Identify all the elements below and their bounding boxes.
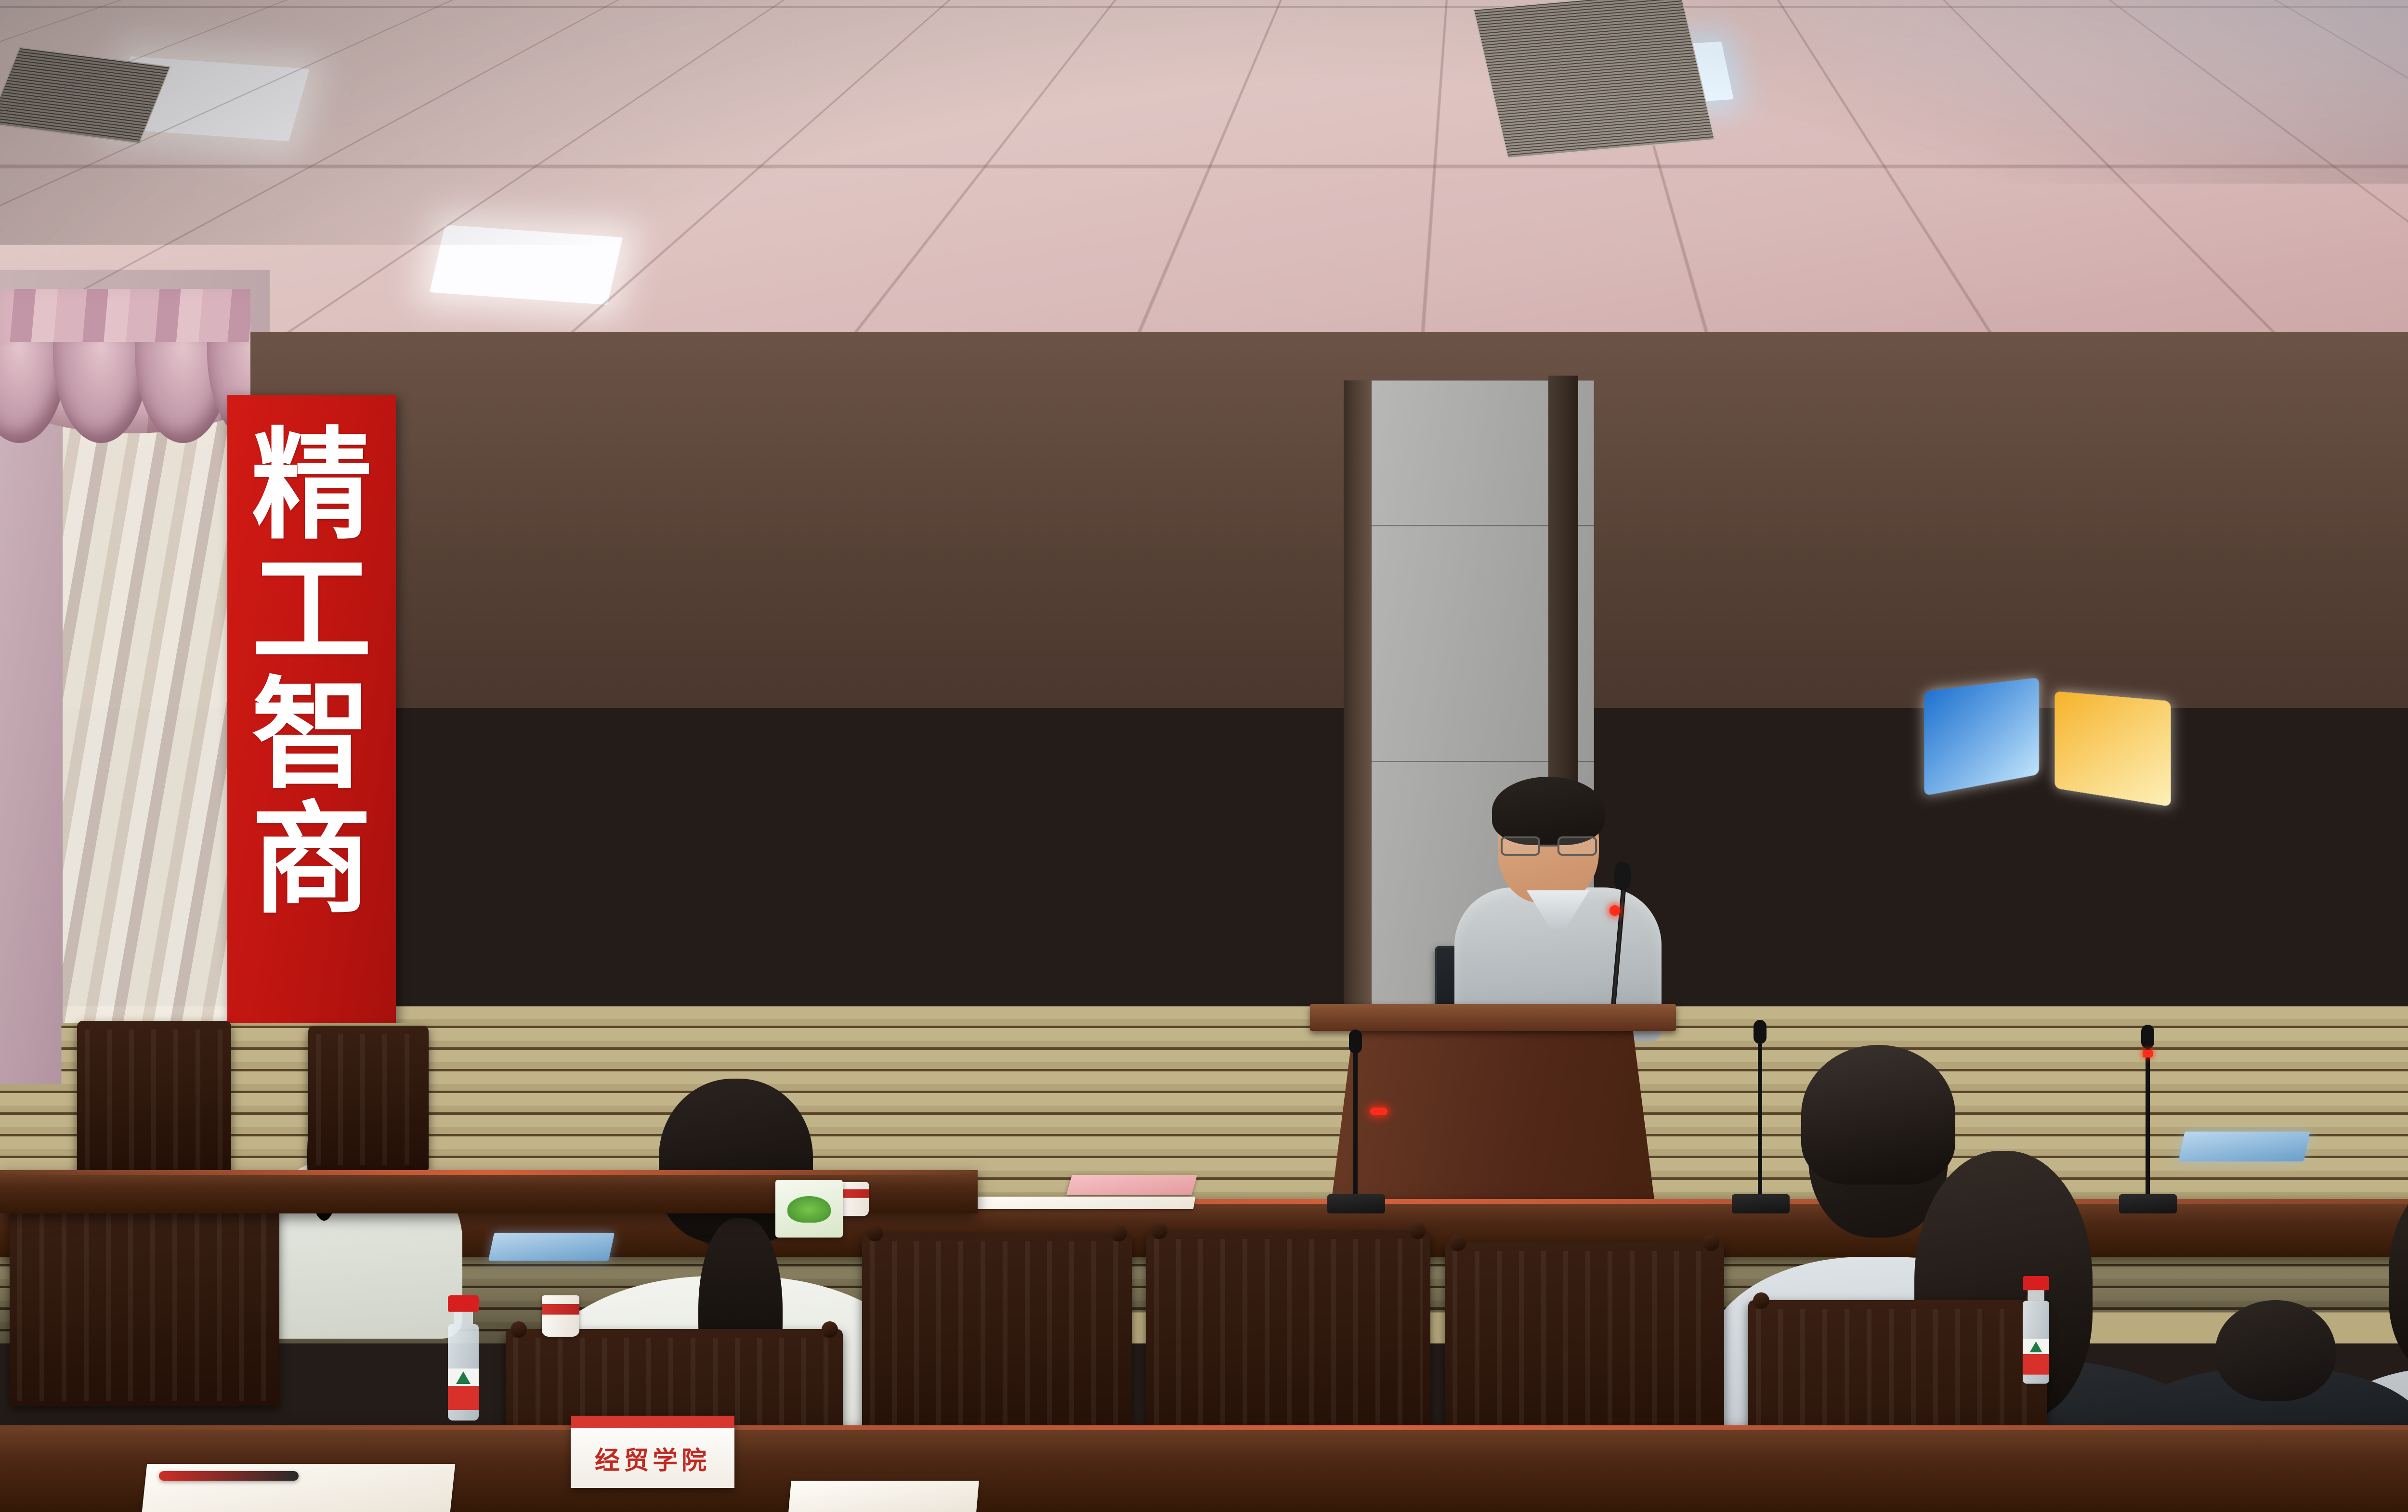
app-icon: P — [1841, 641, 1871, 671]
desktop-icon-label: 网络 — [1605, 597, 1623, 607]
desktop-icon-label: 优酷 — [1726, 674, 1743, 684]
podium-led-indicator — [1370, 1108, 1387, 1115]
app-icon: W — [1780, 719, 1810, 749]
desktop-icon-label: 网上安装 — [1838, 596, 1874, 605]
app-icon: ▷ — [1719, 641, 1750, 671]
chair-knob — [867, 1225, 883, 1241]
desktop-icon[interactable]: 🌐网络 — [1585, 564, 1642, 641]
desktop-icon-label: 开始扫描 — [1717, 441, 1752, 451]
banner-char-1: 精 — [251, 426, 372, 544]
desktop-icon-label: VLC media player — [1827, 830, 1885, 849]
chair-knob — [1450, 1235, 1466, 1251]
app-icon: ≡ — [1719, 718, 1750, 749]
pine-tree-icon — [2030, 1342, 2042, 1352]
projection-screen-frame: 商 1953 广西工商职业技术学院 2022-2023学年第二学期青年教师教学 … — [432, 404, 1369, 972]
app-icon: ◈ — [1659, 486, 1688, 517]
pine-tree-icon — [456, 1371, 471, 1384]
app-icon: ◣ — [1659, 641, 1688, 671]
desktop-icon-label: 寒冬影音9 — [1714, 752, 1754, 761]
tissue-box — [775, 1180, 843, 1238]
ceiling-light-panel — [1520, 255, 1735, 324]
chair-slats — [1154, 1239, 1423, 1457]
university-emblem-icon: 商 1953 — [500, 456, 601, 557]
desktop-icon-label: 360安全浏览器 — [1706, 596, 1763, 615]
app-icon: 🌐 — [1599, 564, 1629, 594]
conference-chair — [10, 1204, 279, 1406]
conference-hall-photo: 精 工 智 商 商 1953 广西工商职业技术学院 2022-2023学年第二学… — [0, 0, 2408, 1512]
desktop-icon[interactable]: 🖨开始扫描 — [1705, 408, 1763, 486]
windows-desktop[interactable]: lenovo▤广商端+设备介绍视频🖨开始扫描CADCAD快速看图♪QQ音乐🖥计算… — [1578, 390, 2408, 994]
app-icon: 🖥 — [1599, 487, 1629, 517]
windows-logo-pane-blue — [1924, 678, 2039, 796]
taskbar-item-label: 04 主持人说里验 — [1731, 963, 1800, 977]
slide-header-band: 商 1953 广西工商职业技术学院 — [443, 417, 1359, 596]
desktop-icon[interactable]: ▥文印 — [1766, 796, 1824, 874]
slide-title-band: 2022-2023学年第二学期青年教师教学 基本功决赛 — [443, 596, 1359, 808]
water-bottle — [448, 1295, 479, 1421]
bottle-body — [448, 1324, 479, 1421]
taskbar-item[interactable]: 10 老化人物 那... — [1898, 961, 1989, 982]
desktop-icon[interactable]: 🗑回收站 — [1585, 641, 1642, 719]
desktop-icon[interactable]: PPPT当前（4讲导（举会） — [1705, 873, 1763, 952]
chair-knob — [1151, 1223, 1167, 1239]
desktop-icon-label: mp3 — [1847, 518, 1865, 527]
app-icon: ◉ — [1659, 873, 1688, 903]
windows-logo-wallpaper-icon — [1926, 574, 2187, 806]
app-icon: e — [1780, 563, 1810, 593]
desktop-icon-label: 学期班组当师方乐教... — [1827, 674, 1885, 693]
desktop-icon-label: 荷日会 — [1661, 597, 1687, 606]
folder-icon — [1599, 409, 1629, 440]
taskbar-item-label: 01 边医的用说... — [1822, 964, 1890, 978]
ceiling-light-panel — [430, 225, 623, 305]
desktop-icon-label: Google Chrome — [1767, 674, 1823, 693]
desktop-icon[interactable]: 网上安装 — [1827, 562, 1885, 641]
taskbar-item[interactable]: 01 边医的用说... — [1808, 960, 1895, 981]
desktop-icon-label: HP LaserJet MFP M277... — [1586, 751, 1642, 770]
chair-slats — [17, 1212, 272, 1401]
desktop-icon[interactable]: ◣央视影音 — [1645, 641, 1702, 718]
table-edge-light-reflection — [0, 1170, 978, 1175]
windows-logo-pane-green — [2055, 580, 2171, 695]
desktop-icon[interactable]: W网6 — [1766, 718, 1824, 796]
desk-paper-sheet — [967, 1197, 1196, 1209]
bottle-cap — [1649, 1343, 1680, 1360]
windows-taskbar[interactable]: ▤ 02 气相色谱仪... 04 主持人说里验 01 边医的用说... 10 老… — [1578, 952, 2408, 994]
taskbar-item-label: 网络和共享中心 — [2008, 965, 2075, 979]
chair-slats — [870, 1241, 1124, 1454]
desktop-icon-label: 多维信联校校电子书包评... — [1706, 519, 1763, 538]
desktop-icon-label: 计算机 — [1601, 520, 1627, 529]
led-display-frame: lenovo▤广商端+设备介绍视频🖨开始扫描CADCAD快速看图♪QQ音乐🖥计算… — [1570, 381, 2408, 1001]
app-icon: 🖨 — [1719, 408, 1750, 438]
slide-university-name: 广西工商职业技术学院 — [622, 465, 1239, 547]
desktop-icon-label: 腾讯评星极速版 — [1646, 519, 1702, 539]
chair-knob — [1409, 1223, 1426, 1239]
desktop-icon[interactable]: CADCAD快速看图-有客助手 — [1766, 485, 1824, 563]
desktop-icon-label: lenovo — [1601, 443, 1626, 452]
bottle-body — [1649, 1372, 1680, 1469]
desktop-icon[interactable]: ♪QQ音乐 — [1827, 406, 1885, 485]
chair-knob — [1111, 1225, 1127, 1241]
desktop-icon[interactable]: ▶荷日会 — [1645, 563, 1702, 641]
app-icon: ▤ — [1659, 409, 1688, 439]
folder-icon — [1841, 484, 1871, 515]
folder-icon — [1841, 562, 1871, 593]
desktop-icon[interactable]: ▤广商端+设备介绍视频 — [1645, 409, 1702, 487]
desktop-icon[interactable]: ✿多维信联校校电子书包评... — [1705, 485, 1763, 563]
app-icon: ▥ — [1780, 796, 1810, 827]
desktop-icon[interactable]: ◉Google Chrome — [1766, 641, 1824, 719]
department-nameplate: 经贸学院 — [571, 1416, 734, 1488]
chair-knob — [510, 1321, 527, 1338]
app-icon: 🖨 — [1599, 718, 1629, 748]
desktop-icon[interactable]: 🖥计算机 — [1585, 487, 1642, 564]
app-icon: e — [1719, 563, 1750, 594]
bottle-neck — [2028, 1290, 2044, 1301]
desktop-icon[interactable]: mp3 — [1827, 484, 1885, 563]
app-icon: ✿ — [1719, 486, 1750, 516]
bottle-neck — [1655, 1360, 1675, 1372]
desktop-icon[interactable]: ▷优酷 — [1705, 641, 1763, 718]
desktop-icon[interactable]: lenovo — [1585, 409, 1642, 487]
windows-logo-pane-red — [1924, 568, 2039, 687]
app-icon: CAD — [1780, 407, 1810, 438]
bottle-cap — [2023, 1276, 2049, 1290]
desktop-icon-label: 回收站 — [1601, 674, 1627, 684]
desktop-icon-label: 文印 — [1786, 830, 1804, 839]
paper-cup — [1623, 1290, 1661, 1332]
ceiling — [0, 0, 2408, 380]
bottle-cap — [448, 1295, 479, 1312]
desk-paper-sheet — [788, 1481, 979, 1512]
banner-char-3: 智 — [251, 676, 372, 794]
app-icon: ▲ — [1841, 797, 1871, 827]
desktop-icon-label: 微信 — [1665, 906, 1683, 916]
desktop-icon-extra[interactable]: 2023年国赛录用方案通告 — [2288, 633, 2391, 662]
app-icon: 🐧 — [1719, 796, 1750, 826]
app-icon: ♪ — [1841, 406, 1871, 437]
desktop-icon[interactable]: e360安全浏览器 — [1705, 563, 1763, 641]
desktop-icon-label: 腾讯QQ — [1719, 829, 1750, 839]
chair-knob — [1703, 1235, 1719, 1251]
podium-top-surface — [1310, 1004, 1676, 1031]
desktop-icon-extra[interactable]: 不与实习-2023年夏季 — [2160, 900, 2248, 917]
app-icon: ◉ — [1780, 641, 1810, 671]
desktop-icon[interactable]: ▲VLC media player — [1827, 796, 1885, 875]
podium-microphone-head — [1614, 862, 1631, 890]
slide-title-line-1: 2022-2023学年第二学期青年教师教学 — [505, 636, 1297, 697]
emblem-year: 1953 — [500, 535, 601, 549]
desktop-icon-label: FlyClock远程控制服务 — [1767, 596, 1823, 615]
desktop-icon-label: CAD快速看图 — [1768, 440, 1822, 450]
microphone-capsule — [1349, 1030, 1362, 1054]
bottle-label — [2023, 1339, 2049, 1375]
conference-chair — [77, 1021, 231, 1175]
taskbar-item[interactable]: ⇄网络和共享中心 — [1992, 962, 2081, 983]
desktop-icon-label: QQ音乐 — [1840, 440, 1872, 450]
bottle-neck — [454, 1312, 473, 1324]
taskbar-item[interactable]: 04 主持人说里验 — [1717, 959, 1805, 980]
eyeglasses-icon — [1501, 836, 1597, 857]
curtain-side-panel — [0, 361, 63, 1146]
presenter-hair — [1492, 777, 1605, 845]
microphone-led-indicator — [1610, 905, 1620, 916]
slide-footer-band: 2023年7月7日 — [443, 808, 1359, 959]
desktop-icon[interactable]: ≡寒冬影音9 — [1705, 718, 1763, 796]
chair-knob — [1753, 1292, 1769, 1309]
ceiling-air-vent — [1473, 0, 1715, 158]
slide-date: 2023年7月7日 — [800, 874, 1002, 913]
desktop-icon-label: PPT当前（4讲导（举会） — [1706, 907, 1763, 926]
desktop-icon[interactable]: P学期班组当师方乐教... — [1827, 641, 1885, 719]
projection-screen: 商 1953 广西工商职业技术学院 2022-2023学年第二学期青年教师教学 … — [443, 417, 1359, 959]
app-icon: ▶ — [1659, 564, 1688, 594]
banner-char-4: 商 — [251, 800, 372, 918]
desktop-icon-label: 广商端+设备介绍视频 — [1646, 442, 1702, 461]
water-bottle — [2023, 1276, 2049, 1384]
window-curtain — [0, 289, 250, 1146]
app-icon: ▩ — [1841, 719, 1871, 749]
bottle-label — [448, 1369, 479, 1410]
conference-microphone — [1353, 1050, 1358, 1204]
desktop-icon-label: 共享讯9 — [1840, 752, 1872, 762]
table-edge-light-reflection — [0, 1425, 2408, 1430]
folder-icon — [1659, 796, 1688, 826]
bottle-label — [1649, 1417, 1680, 1458]
microphone-capsule — [2141, 1025, 2154, 1049]
water-bottle — [1649, 1343, 1680, 1469]
microphone-led-indicator — [2143, 1050, 2153, 1057]
desktop-icon[interactable]: ◈腾讯评星极速版 — [1645, 486, 1702, 564]
desktop-icon-label: 央视影音 — [1656, 674, 1691, 684]
desktop-icon-label: 网6 — [1788, 752, 1802, 761]
desktop-icon[interactable]: 🐧腾讯QQ — [1705, 796, 1763, 874]
desktop-icon[interactable]: eFlyClock远程控制服务 — [1766, 563, 1824, 641]
app-icon: CAD — [1780, 485, 1810, 515]
windows-logo-pane-yellow — [2055, 691, 2171, 807]
desktop-icon[interactable]: CADCAD快速看图 — [1766, 407, 1824, 485]
microphone-base — [1327, 1194, 1385, 1213]
desktop-icon-label: CAD快速看图-有客助手 — [1767, 518, 1823, 538]
banner-char-2: 工 — [251, 551, 372, 669]
app-icon: 🗑 — [1599, 641, 1629, 671]
presenter — [1454, 782, 1662, 1033]
nameplate-text: 经贸学院 — [595, 1440, 710, 1476]
app-icon: P — [1719, 874, 1750, 904]
desk-paper-sheet — [1066, 1175, 1197, 1195]
chair-knob — [822, 1321, 838, 1338]
conference-chair — [308, 1026, 429, 1170]
taskbar-item-label: 10 老化人物 那... — [1913, 965, 1984, 978]
slide-title-line-2: 基本功决赛 — [791, 706, 1010, 767]
bottle-body — [2023, 1301, 2049, 1384]
pen — [159, 1471, 299, 1481]
desktop-icon-label: WPS Office — [1651, 751, 1696, 761]
audience-head — [2215, 1300, 2336, 1401]
paper-cup — [542, 1295, 579, 1337]
chair-slats — [85, 1030, 223, 1170]
desktop-icon[interactable]: ▩共享讯9 — [1827, 719, 1885, 797]
pine-tree-icon — [1658, 1420, 1672, 1432]
app-icon: W — [1659, 718, 1688, 748]
chair-slats — [316, 1034, 421, 1165]
